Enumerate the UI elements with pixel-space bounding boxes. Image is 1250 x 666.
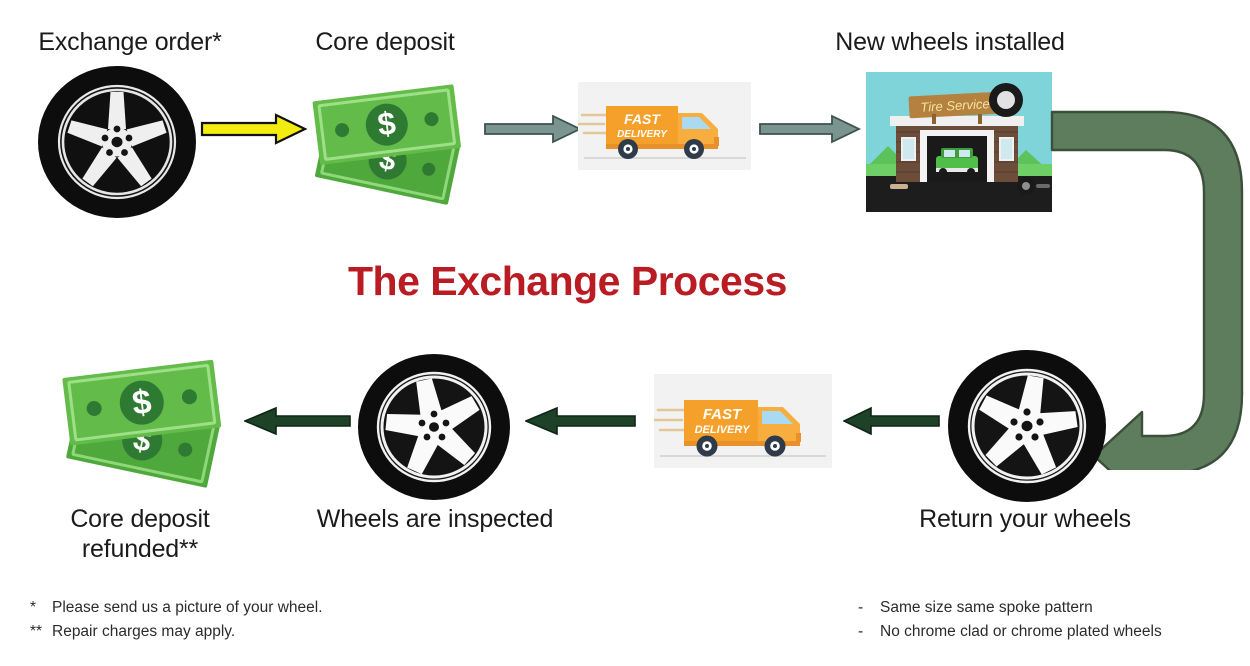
- footnote-left-1: *Please send us a picture of your wheel.: [30, 596, 323, 620]
- money-graphic-refund: $ $: [56, 348, 238, 488]
- footnote-text: No chrome clad or chrome plated wheels: [880, 623, 1162, 640]
- label-core-deposit-refunded: Core deposit refunded**: [20, 505, 260, 564]
- label-exchange-order: Exchange order*: [0, 28, 260, 58]
- arrow-inspection-to-refund: [244, 404, 352, 438]
- arrow-return-to-delivery: [843, 404, 941, 438]
- delivery-truck-graphic-outbound: FAST DELIVERY: [578, 82, 751, 170]
- truck-text-fast: FAST: [703, 406, 743, 423]
- truck-text-fast: FAST: [624, 111, 661, 127]
- label-return-your-wheels: Return your wheels: [860, 505, 1190, 535]
- footnote-right-2: -No chrome clad or chrome plated wheels: [858, 620, 1162, 644]
- footnote-marker: -: [858, 596, 880, 620]
- footnote-left-2: **Repair charges may apply.: [30, 620, 323, 644]
- footnote-text: Repair charges may apply.: [52, 623, 235, 640]
- footnote-marker: *: [30, 596, 52, 620]
- wheel-graphic-return-wheels: [946, 348, 1108, 504]
- page-title: The Exchange Process: [348, 258, 787, 305]
- money-graphic-core-deposit: $ $: [306, 74, 478, 206]
- arrow-deposit-to-delivery: [483, 112, 583, 146]
- label-new-wheels-installed: New wheels installed: [800, 28, 1100, 58]
- exchange-process-infographic: Exchange order* Core deposit New wheels …: [0, 0, 1250, 666]
- footnote-marker: **: [30, 620, 52, 644]
- tire-service-shop-graphic: Tire Service: [866, 72, 1052, 212]
- label-wheels-are-inspected: Wheels are inspected: [290, 505, 580, 535]
- footnote-text: Same size same spoke pattern: [880, 599, 1093, 616]
- arrow-delivery-to-inspection: [525, 404, 637, 438]
- wheel-graphic-exchange-order: [36, 64, 198, 220]
- footnotes-right: -Same size same spoke pattern -No chrome…: [858, 596, 1162, 644]
- arrow-delivery-to-shop: [758, 112, 862, 146]
- footnote-text: Please send us a picture of your wheel.: [52, 599, 323, 616]
- label-core-deposit: Core deposit: [255, 28, 515, 58]
- footnotes-left: *Please send us a picture of your wheel.…: [30, 596, 323, 644]
- truck-text-delivery: DELIVERY: [695, 424, 751, 436]
- wheel-graphic-inspected: [356, 352, 512, 502]
- footnote-marker: -: [858, 620, 880, 644]
- truck-text-delivery: DELIVERY: [617, 129, 668, 140]
- label-core-deposit-refunded-line2: refunded**: [82, 535, 198, 563]
- footnote-right-1: -Same size same spoke pattern: [858, 596, 1162, 620]
- label-core-deposit-refunded-line1: Core deposit: [70, 505, 209, 533]
- delivery-truck-graphic-inbound: FAST DELIVERY: [654, 374, 832, 468]
- arrow-exchange-to-deposit: [200, 112, 308, 146]
